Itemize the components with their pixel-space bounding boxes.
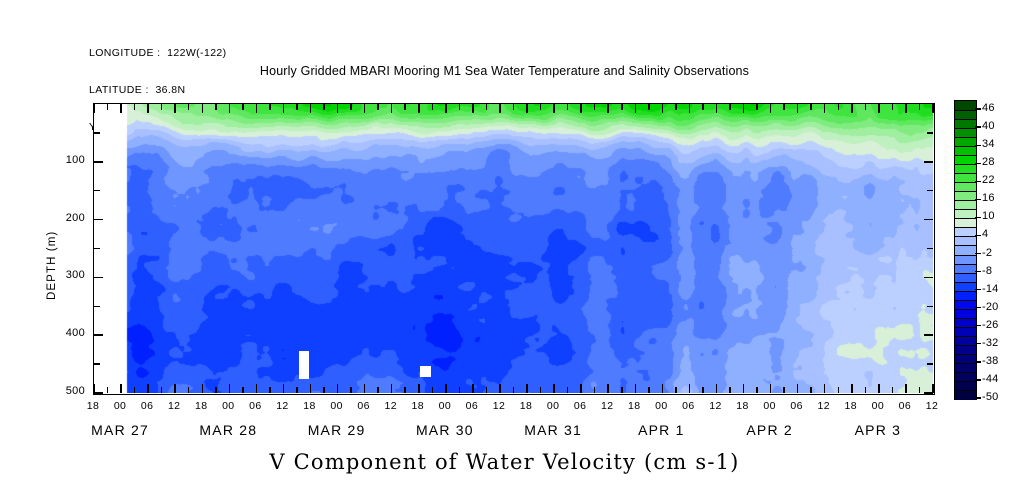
colorbar-separator [955,191,976,192]
x-tick-major [797,104,799,113]
colorbar-separator [955,137,976,138]
x-axis-hour-label: 00 [322,400,352,412]
x-axis-hour-label: 00 [755,400,785,412]
y-axis-title: DEPTH (m) [46,231,58,300]
x-axis-hour-label: 06 [565,400,595,412]
x-tick-major [391,104,393,113]
colorbar-label: -44 [982,373,999,385]
x-tick-minor [594,104,596,110]
x-axis-hour-label: 12 [700,400,730,412]
x-tick-minor [810,387,812,393]
x-tick-major [878,384,880,393]
x-tick-minor [513,387,515,393]
x-tick-minor [404,104,406,110]
colorbar-label: -50 [982,391,999,403]
x-tick-major [932,384,934,393]
x-axis-hour-label: 06 [782,400,812,412]
chart-page: LONGITUDE : 122W(-122) LATITUDE : 36.8N … [0,0,1009,504]
x-tick-major [418,384,420,393]
x-axis-hour-label: 12 [917,400,947,412]
y-tick-major [924,277,933,279]
x-axis-hour-label: 00 [538,400,568,412]
colorbar-label: 40 [982,120,995,132]
longitude-label: LONGITUDE : 122W(-122) [89,47,227,59]
x-tick-minor [107,104,109,110]
y-axis-label: 500 [43,385,85,397]
colorbar-tick [975,289,981,290]
x-axis-hour-label: 00 [646,400,676,412]
data-gap [299,351,309,379]
x-tick-major [689,384,691,393]
x-tick-minor [675,104,677,110]
y-tick-minor [94,306,100,308]
x-tick-major [310,104,312,113]
colorbar-separator [955,300,976,301]
colorbar-separator [955,173,976,174]
colorbar-separator [955,155,976,156]
colorbar-separator [955,264,976,265]
x-tick-minor [865,104,867,110]
colorbar-separator [955,255,976,256]
colorbar-label: -26 [982,319,999,331]
colorbar-tick [975,199,981,200]
x-tick-minor [892,104,894,110]
colorbar-label: -38 [982,355,999,367]
colorbar-tick [975,181,981,182]
colorbar-tick [975,108,981,109]
x-tick-major [472,104,474,113]
x-tick-major [256,104,258,113]
y-tick-minor [927,190,933,192]
x-axis-hour-label: 00 [105,400,135,412]
x-tick-minor [107,387,109,393]
x-tick-minor [188,104,190,110]
x-tick-major [283,384,285,393]
x-tick-minor [377,104,379,110]
x-tick-minor [350,104,352,110]
y-tick-minor [94,190,100,192]
colorbar-tick [975,253,981,254]
y-tick-major [94,277,103,279]
x-tick-major [635,384,637,393]
colorbar-separator [955,354,976,355]
colorbar-label: 4 [982,228,988,240]
x-tick-minor [459,387,461,393]
x-tick-major [553,384,555,393]
colorbar-separator [955,236,976,237]
x-tick-major [526,384,528,393]
x-tick-major [93,104,95,113]
heatmap-canvas [94,104,933,393]
x-tick-minor [919,387,921,393]
colorbar-label: 34 [982,138,995,150]
x-tick-major [499,104,501,113]
x-axis-date-label: MAR 28 [168,422,288,438]
latitude-label: LATITUDE : 36.8N [89,84,227,96]
x-axis-hour-label: 18 [511,400,541,412]
x-tick-minor [215,387,217,393]
x-tick-minor [432,387,434,393]
x-tick-minor [729,387,731,393]
x-tick-major [689,104,691,113]
y-tick-major [94,219,103,221]
colorbar-label: 46 [982,102,995,114]
x-tick-major [202,104,204,113]
x-tick-major [580,104,582,113]
y-tick-minor [94,363,100,365]
x-tick-major [391,384,393,393]
colorbar-separator [955,245,976,246]
x-tick-minor [296,387,298,393]
plot-caption: V Component of Water Velocity (cm s-1) [0,450,1009,474]
colorbar-separator [955,372,976,373]
x-tick-major [824,384,826,393]
x-axis-hour-label: 00 [863,400,893,412]
x-tick-major [418,104,420,113]
x-axis-hour-label: 12 [809,400,839,412]
x-tick-minor [323,387,325,393]
x-tick-major [364,104,366,113]
x-tick-minor [486,104,488,110]
colorbar-separator [955,345,976,346]
x-tick-minor [134,104,136,110]
x-axis-hour-label: 00 [213,400,243,412]
colorbar-separator [955,291,976,292]
x-tick-minor [540,387,542,393]
colorbar-separator [955,110,976,111]
x-tick-major [662,104,664,113]
colorbar-tick [975,126,981,127]
x-axis-date-label: APR 3 [818,422,938,438]
x-axis-date-label: MAR 30 [385,422,505,438]
colorbar-separator [955,200,976,201]
x-axis-date-label: MAR 27 [60,422,180,438]
x-axis-date-label: APR 1 [601,422,721,438]
x-tick-major [607,384,609,393]
colorbar-label: 22 [982,174,995,186]
x-tick-minor [621,104,623,110]
x-tick-major [824,104,826,113]
x-tick-minor [269,104,271,110]
colorbar-label: 28 [982,156,995,168]
x-tick-major [743,104,745,113]
x-tick-minor [729,104,731,110]
colorbar-separator [955,309,976,310]
y-tick-minor [927,248,933,250]
x-tick-major [607,104,609,113]
x-tick-minor [702,104,704,110]
x-axis-date-label: APR 2 [710,422,830,438]
x-axis-hour-label: 18 [403,400,433,412]
colorbar-tick [975,379,981,380]
chart-title: Hourly Gridded MBARI Mooring M1 Sea Wate… [0,64,1009,78]
x-tick-minor [215,104,217,110]
x-axis-hour-label: 12 [484,400,514,412]
x-tick-minor [648,387,650,393]
colorbar-label: -8 [982,265,992,277]
x-axis-hour-label: 12 [376,400,406,412]
x-tick-minor [134,387,136,393]
colorbar-separator [955,381,976,382]
colorbar-separator [955,363,976,364]
x-tick-minor [540,104,542,110]
y-axis-label: 200 [43,212,85,224]
x-axis-hour-label: 18 [728,400,758,412]
y-tick-major [924,161,933,163]
colorbar-tick [975,325,981,326]
x-tick-major [770,104,772,113]
colorbar-tick [975,235,981,236]
x-tick-minor [188,387,190,393]
colorbar-tick [975,343,981,344]
x-tick-minor [865,387,867,393]
x-tick-major [256,384,258,393]
x-tick-minor [432,104,434,110]
colorbar [954,100,977,400]
x-tick-minor [296,104,298,110]
x-tick-major [229,104,231,113]
x-tick-major [229,384,231,393]
colorbar-label: -20 [982,301,999,313]
x-tick-major [851,384,853,393]
colorbar-separator [955,282,976,283]
x-axis-hour-label: 06 [457,400,487,412]
x-tick-minor [892,387,894,393]
colorbar-separator [955,119,976,120]
colorbar-separator [955,164,976,165]
x-axis-hour-label: 00 [430,400,460,412]
x-tick-minor [513,104,515,110]
x-tick-major [905,384,907,393]
x-axis-hour-label: 18 [186,400,216,412]
x-tick-minor [621,387,623,393]
colorbar-separator [955,390,976,391]
colorbar-separator [955,209,976,210]
x-tick-major [202,384,204,393]
colorbar-tick [975,271,981,272]
y-axis-label: 100 [43,154,85,166]
x-tick-major [580,384,582,393]
colorbar-separator [955,227,976,228]
x-axis-hour-label: 06 [349,400,379,412]
y-tick-minor [927,363,933,365]
y-tick-minor [927,306,933,308]
x-axis-date-label: MAR 29 [277,422,397,438]
x-tick-minor [242,104,244,110]
x-axis-hour-label: 12 [592,400,622,412]
x-axis-date-label: MAR 31 [493,422,613,438]
colorbar-tick [975,163,981,164]
y-tick-major [924,334,933,336]
x-tick-major [526,104,528,113]
x-tick-minor [702,387,704,393]
x-tick-major [743,384,745,393]
y-tick-major [94,334,103,336]
colorbar-separator [955,146,976,147]
x-tick-major [553,104,555,113]
x-tick-minor [459,104,461,110]
y-tick-major [924,219,933,221]
x-tick-major [878,104,880,113]
colorbar-tick [975,361,981,362]
colorbar-label: -2 [982,247,992,259]
colorbar-separator [955,218,976,219]
x-axis-hour-label: 18 [78,400,108,412]
x-tick-minor [675,387,677,393]
x-tick-major [445,104,447,113]
y-axis-label: 400 [43,327,85,339]
colorbar-separator [955,318,976,319]
x-tick-major [445,384,447,393]
colorbar-tick [975,145,981,146]
x-tick-minor [269,387,271,393]
x-tick-major [283,104,285,113]
x-tick-major [716,384,718,393]
x-tick-major [635,104,637,113]
y-tick-minor [94,248,100,250]
x-tick-major [905,104,907,113]
x-tick-major [851,104,853,113]
x-tick-major [770,384,772,393]
colorbar-label: -32 [982,337,999,349]
x-tick-minor [350,387,352,393]
colorbar-separator [955,273,976,274]
y-tick-minor [94,132,100,134]
colorbar-separator [955,327,976,328]
x-tick-minor [783,387,785,393]
x-axis-hour-label: 12 [267,400,297,412]
x-axis-hour-label: 06 [890,400,920,412]
x-tick-major [364,384,366,393]
x-tick-major [662,384,664,393]
x-tick-major [472,384,474,393]
colorbar-tick [975,217,981,218]
x-tick-major [310,384,312,393]
x-tick-major [147,104,149,113]
x-tick-minor [648,104,650,110]
x-tick-major [337,384,339,393]
colorbar-separator [955,336,976,337]
x-tick-minor [594,387,596,393]
colorbar-label: -14 [982,283,999,295]
x-axis-hour-label: 06 [673,400,703,412]
x-tick-major [337,104,339,113]
colorbar-band [955,390,976,400]
x-tick-major [174,104,176,113]
x-tick-minor [242,387,244,393]
y-tick-major [94,161,103,163]
x-tick-major [147,384,149,393]
data-gap [420,366,431,377]
x-tick-minor [756,387,758,393]
x-tick-minor [567,104,569,110]
x-tick-minor [486,387,488,393]
x-tick-minor [838,104,840,110]
x-tick-minor [404,387,406,393]
x-axis-hour-label: 06 [132,400,162,412]
x-axis-hour-label: 06 [240,400,270,412]
x-tick-minor [756,104,758,110]
x-tick-minor [810,104,812,110]
y-tick-major [94,392,103,394]
x-axis-hour-label: 18 [295,400,325,412]
x-axis-hour-label: 18 [619,400,649,412]
x-tick-major [499,384,501,393]
x-tick-major [120,104,122,113]
x-axis-hour-label: 12 [159,400,189,412]
colorbar-separator [955,128,976,129]
x-tick-minor [161,387,163,393]
x-tick-major [174,384,176,393]
colorbar-label: 10 [982,210,995,222]
x-tick-minor [567,387,569,393]
x-tick-major [120,384,122,393]
x-tick-minor [783,104,785,110]
colorbar-separator [955,182,976,183]
x-tick-minor [323,104,325,110]
colorbar-label: 16 [982,192,995,204]
x-tick-major [716,104,718,113]
x-tick-minor [377,387,379,393]
x-axis-hour-label: 18 [836,400,866,412]
x-tick-minor [919,104,921,110]
x-tick-minor [838,387,840,393]
plot-area [93,103,935,395]
x-tick-minor [161,104,163,110]
colorbar-tick [975,307,981,308]
colorbar-tick [975,397,981,398]
x-tick-major [93,384,95,393]
x-tick-major [797,384,799,393]
x-tick-major [932,104,934,113]
y-tick-minor [927,132,933,134]
